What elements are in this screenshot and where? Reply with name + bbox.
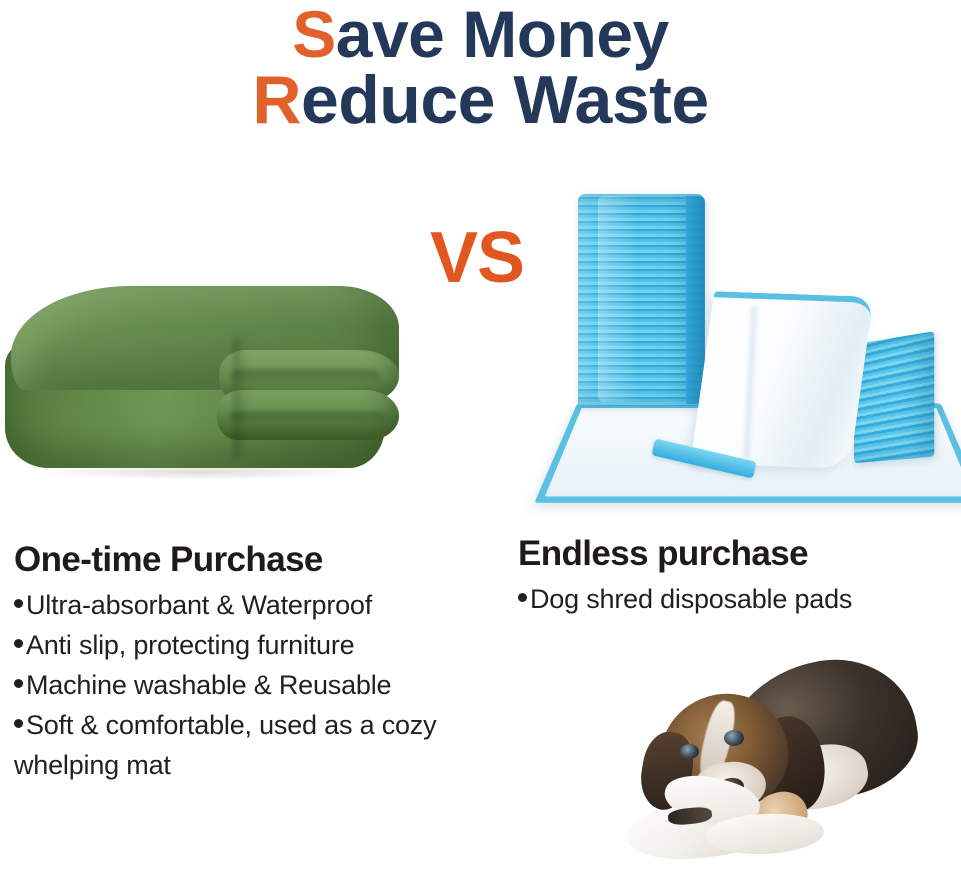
headline-line-1-rest: ave Money [336,0,669,71]
bullet-dot-icon [14,719,23,728]
headline-line-2: Reduce Waste [0,67,961,134]
left-column-heading: One-time Purchase [14,540,484,580]
page-title: Save Money Reduce Waste [0,2,961,133]
blanket-fold-line-1 [231,370,381,386]
list-item-label: Dog shred disposable pads [530,584,852,614]
list-item-label: Machine washable & Reusable [26,670,391,700]
blanket-fold-line-2 [227,412,385,426]
pad-folded-sheet [690,291,873,468]
right-bullet-list: Dog shred disposable pads [518,580,958,620]
puppy-eye-right [724,730,744,746]
disposable-pads-image [552,186,952,511]
bullet-dot-icon [14,599,23,608]
headline-line-2-rest: educe Waste [301,62,709,138]
left-feature-column: One-time Purchase Ultra-absorbant & Wate… [14,540,484,786]
bullet-dot-icon [14,679,23,688]
puppy-eye-left [680,744,699,759]
list-item-label: Ultra-absorbant & Waterproof [26,590,372,620]
list-item: Machine washable & Reusable [14,666,484,706]
puppy-photo [620,650,950,872]
pad-stack-tall-highlight [598,196,638,402]
right-column-heading: Endless purchase [518,534,958,574]
list-item: Ultra-absorbant & Waterproof [14,586,484,626]
green-blanket-image [5,278,405,483]
headline-initial-r: R [252,62,301,138]
versus-label: VS [430,222,524,294]
bullet-dot-icon [518,593,527,602]
list-item-label: Anti slip, protecting furniture [26,630,354,660]
right-feature-column: Endless purchase Dog shred disposable pa… [518,534,958,620]
list-item: Soft & comfortable, used as a cozy whelp… [14,706,484,786]
left-bullet-list: Ultra-absorbant & Waterproof Anti slip, … [14,586,484,786]
bullet-dot-icon [14,639,23,648]
list-item: Anti slip, protecting furniture [14,626,484,666]
headline-initial-s: S [292,0,336,71]
list-item: Dog shred disposable pads [518,580,958,620]
list-item-label: Soft & comfortable, used as a cozy whelp… [14,710,436,780]
blanket-crease [233,338,247,458]
headline-line-1: Save Money [0,2,961,67]
product-comparison-infographic: Save Money Reduce Waste VS [0,0,961,875]
